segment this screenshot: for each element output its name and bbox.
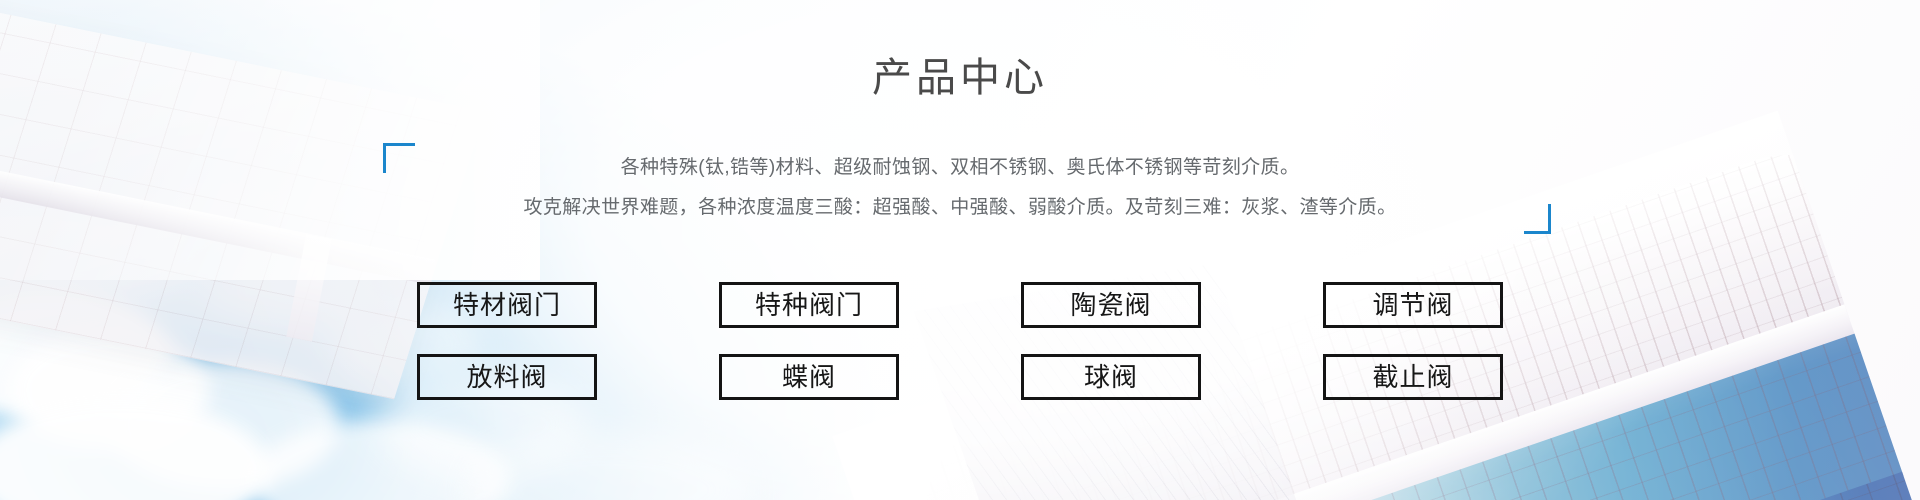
category-button-te-cai-fa-men[interactable]: 特材阀门 bbox=[417, 282, 597, 328]
page-title: 产品中心 bbox=[0, 52, 1920, 104]
category-button-qiu-fa[interactable]: 球阀 bbox=[1021, 354, 1201, 400]
description-line-1: 各种特殊(钛,锆等)材料、超级耐蚀钢、双相不锈钢、奥氏体不锈钢等苛刻介质。 bbox=[0, 148, 1920, 188]
category-row-2: 放料阀 蝶阀 球阀 截止阀 bbox=[0, 354, 1920, 400]
category-button-fang-liao-fa[interactable]: 放料阀 bbox=[417, 354, 597, 400]
category-button-die-fa[interactable]: 蝶阀 bbox=[719, 354, 899, 400]
category-button-jie-zhi-fa[interactable]: 截止阀 bbox=[1323, 354, 1503, 400]
banner-content: 产品中心 各种特殊(钛,锆等)材料、超级耐蚀钢、双相不锈钢、奥氏体不锈钢等苛刻介… bbox=[0, 0, 1920, 500]
category-button-tao-ci-fa[interactable]: 陶瓷阀 bbox=[1021, 282, 1201, 328]
category-button-te-zhong-fa-men[interactable]: 特种阀门 bbox=[719, 282, 899, 328]
category-button-grid: 特材阀门 特种阀门 陶瓷阀 调节阀 放料阀 蝶阀 球阀 截止阀 bbox=[0, 282, 1920, 426]
description-block: 各种特殊(钛,锆等)材料、超级耐蚀钢、双相不锈钢、奥氏体不锈钢等苛刻介质。 攻克… bbox=[0, 148, 1920, 228]
product-center-banner: 产品中心 各种特殊(钛,锆等)材料、超级耐蚀钢、双相不锈钢、奥氏体不锈钢等苛刻介… bbox=[0, 0, 1920, 500]
category-button-tiao-jie-fa[interactable]: 调节阀 bbox=[1323, 282, 1503, 328]
description-line-2: 攻克解决世界难题，各种浓度温度三酸：超强酸、中强酸、弱酸介质。及苛刻三难：灰浆、… bbox=[0, 188, 1920, 228]
category-row-1: 特材阀门 特种阀门 陶瓷阀 调节阀 bbox=[0, 282, 1920, 328]
decorative-corner-top-left bbox=[383, 143, 415, 173]
decorative-corner-bottom-right bbox=[1524, 204, 1551, 234]
